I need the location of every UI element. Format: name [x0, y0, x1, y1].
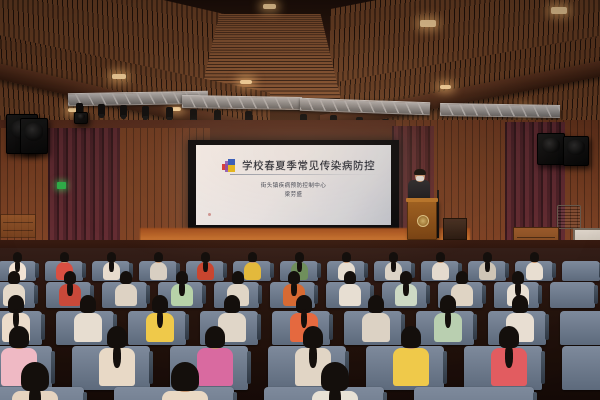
slide-subtitle-presenter: 梁劳盛	[196, 190, 391, 198]
stage-curtain-left	[48, 128, 120, 256]
recessed-ceiling-light	[440, 85, 451, 89]
multicolor-blocks-logo-icon	[222, 159, 237, 173]
audience-member	[485, 322, 533, 388]
audience-member-hair	[80, 295, 96, 312]
par-can-stage-light	[142, 106, 149, 118]
recessed-ceiling-light	[112, 74, 126, 79]
audience-member-hair	[436, 252, 446, 262]
audience-member-hair	[224, 295, 240, 312]
lighting-truss	[440, 103, 560, 118]
auditorium-seat	[562, 261, 600, 281]
wooden-cabinet	[0, 214, 36, 238]
audience-member	[387, 322, 435, 388]
audience-member-hair	[512, 295, 528, 312]
side-table	[443, 218, 467, 240]
institution-emblem-icon	[417, 215, 429, 227]
audience-member-ponytail	[403, 281, 408, 296]
audience-member	[391, 268, 420, 308]
line-array-loudspeaker	[537, 133, 565, 165]
audience-member-hair	[171, 362, 199, 391]
slide-subtitle-organization: 街头镇疾病预防控制中心	[196, 181, 391, 189]
audience-member-hair	[342, 252, 352, 262]
podium-top	[406, 198, 438, 202]
audience-member-torso	[432, 262, 449, 280]
auditorium-photo: 学校春夏季常见传染病防控 街头镇疾病预防控制中心 梁劳盛	[0, 0, 600, 400]
recessed-ceiling-light	[420, 20, 436, 27]
audience-member-hair	[368, 295, 384, 312]
audience-seating-area	[0, 248, 600, 400]
audience-member	[153, 356, 217, 400]
ceiling-monitor-speaker	[74, 112, 88, 124]
audience-member-hair	[530, 252, 540, 262]
auditorium-seat	[414, 387, 534, 400]
line-array-loudspeaker	[563, 136, 589, 166]
audience-member-hair	[120, 271, 133, 284]
auditorium-seat	[562, 346, 600, 390]
audience-member	[111, 268, 140, 308]
audience-member-ponytail	[505, 344, 514, 368]
audience-member-ponytail	[203, 260, 207, 271]
audience-member	[141, 292, 179, 344]
presenter-face-mask	[416, 176, 424, 181]
audience-member-ponytail	[29, 385, 41, 400]
auditorium-seat	[550, 282, 595, 308]
wall-air-conditioner	[557, 205, 581, 229]
audience-member-hair	[205, 326, 226, 348]
audience-member-torso	[362, 313, 390, 342]
audience-member-torso	[393, 348, 428, 385]
audience-member-hair	[248, 252, 258, 262]
par-can-stage-light	[166, 107, 173, 119]
audience-member-ponytail	[113, 344, 122, 368]
projected-slide: 学校春夏季常见传染病防控 街头镇疾病预防控制中心 梁劳盛	[196, 145, 391, 225]
audience-member-hair	[154, 252, 164, 262]
audience-member-torso	[162, 391, 208, 400]
slide-title-rule	[230, 174, 382, 175]
lighting-truss	[182, 95, 302, 110]
recessed-ceiling-light	[240, 80, 252, 84]
recessed-ceiling-light	[172, 107, 181, 111]
audience-member-hair	[8, 271, 21, 284]
recessed-ceiling-light	[263, 4, 276, 9]
audience-member	[194, 250, 217, 281]
audience-member-torso	[150, 262, 167, 280]
audience-member	[476, 250, 499, 281]
audience-member-hair	[9, 326, 30, 348]
audience-member-ponytail	[179, 281, 184, 296]
audience-member-hair	[456, 271, 469, 284]
audience-member-hair	[60, 252, 70, 262]
audience-member-torso	[115, 284, 136, 306]
wooden-podium	[407, 200, 437, 240]
line-array-loudspeaker	[20, 118, 48, 154]
recessed-ceiling-light	[551, 7, 567, 14]
audience-member-ponytail	[329, 385, 341, 400]
par-can-stage-light	[120, 105, 127, 117]
audience-member-hair	[232, 271, 245, 284]
audience-member-ponytail	[485, 260, 489, 271]
slide-corner-mark	[208, 213, 211, 216]
audience-member	[3, 356, 67, 400]
auditorium-seat	[560, 311, 600, 345]
audience-member	[303, 356, 367, 400]
audience-member-hair	[344, 271, 357, 284]
par-can-stage-light	[98, 104, 105, 116]
projection-screen: 学校春夏季常见传染病防控 街头镇疾病预防控制中心 梁劳盛	[188, 140, 399, 232]
emergency-exit-sign	[57, 182, 66, 189]
presenter-hair	[414, 169, 426, 175]
audience-member	[93, 322, 141, 388]
audience-member-hair	[401, 326, 422, 348]
slide-title: 学校春夏季常见传染病防控	[242, 158, 382, 173]
